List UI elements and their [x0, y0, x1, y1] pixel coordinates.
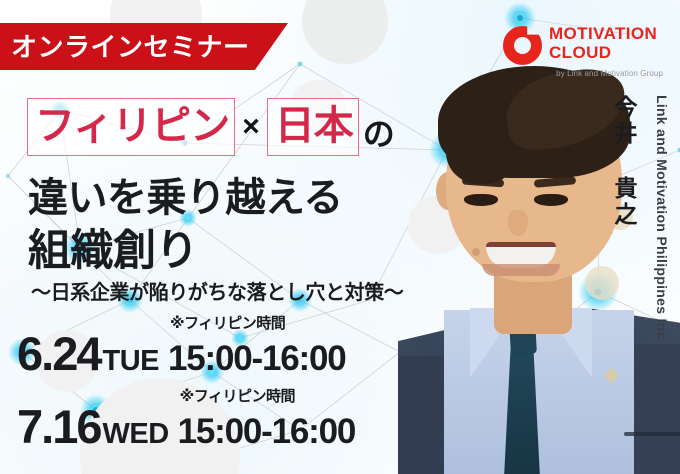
- suit-pocket: [624, 432, 680, 436]
- cheek-mole: [472, 248, 480, 256]
- headline-subtitle: 〜日系企業が陥りがちな落とし穴と対策〜: [31, 283, 403, 303]
- logo-line-1: MOTIVATION: [549, 25, 657, 42]
- times-separator: ×: [235, 112, 267, 142]
- country-philippines-box: フィリピン: [27, 98, 235, 156]
- motivation-cloud-ring-icon: [503, 26, 542, 65]
- session-2-time: 15:00-16:00: [178, 412, 356, 451]
- logo-line-2: CLOUD: [549, 44, 657, 61]
- session-1-timezone-note: ※フィリピン時間: [170, 316, 285, 331]
- headline-countries: フィリピン × 日本 の: [27, 98, 395, 156]
- logo-subtitle: by Link and Motivation Group: [503, 69, 663, 78]
- session-2-timezone-note: ※フィリピン時間: [180, 389, 295, 404]
- session-2-weekday: WED: [102, 420, 168, 449]
- online-seminar-badge: オンラインセミナー: [0, 23, 288, 70]
- online-seminar-badge-label: オンラインセミナー: [0, 34, 250, 60]
- country-japan-box: 日本: [267, 98, 359, 156]
- headline-line-2: 違いを乗り越える: [28, 178, 343, 218]
- motivation-cloud-logo: MOTIVATION CLOUD by Link and Motivation …: [503, 23, 663, 78]
- speaker-photo: [398, 52, 680, 474]
- speaker-company: Link and Motivation Philippines Inc: [655, 95, 669, 340]
- session-row-2: 7.16 WED ※フィリピン時間 15:00-16:00: [17, 403, 355, 450]
- session-2-date: 7.16: [17, 403, 100, 450]
- speaker-name: 今井 貴之: [612, 95, 635, 228]
- lower-lip: [482, 264, 560, 276]
- session-1-weekday: TUE: [102, 347, 159, 376]
- eye-left: [464, 194, 498, 206]
- headline-possessive: の: [359, 118, 395, 156]
- webinar-banner: オンラインセミナー MOTIVATION CLOUD by Link and M…: [0, 0, 680, 474]
- session-1-date: 6.24: [17, 330, 100, 377]
- session-row-1: 6.24 TUE ※フィリピン時間 15:00-16:00: [17, 330, 345, 377]
- nose: [508, 210, 528, 236]
- session-1-time: 15:00-16:00: [168, 339, 346, 378]
- headline-line-3: 組織創り: [28, 230, 198, 273]
- eye-right: [534, 194, 568, 206]
